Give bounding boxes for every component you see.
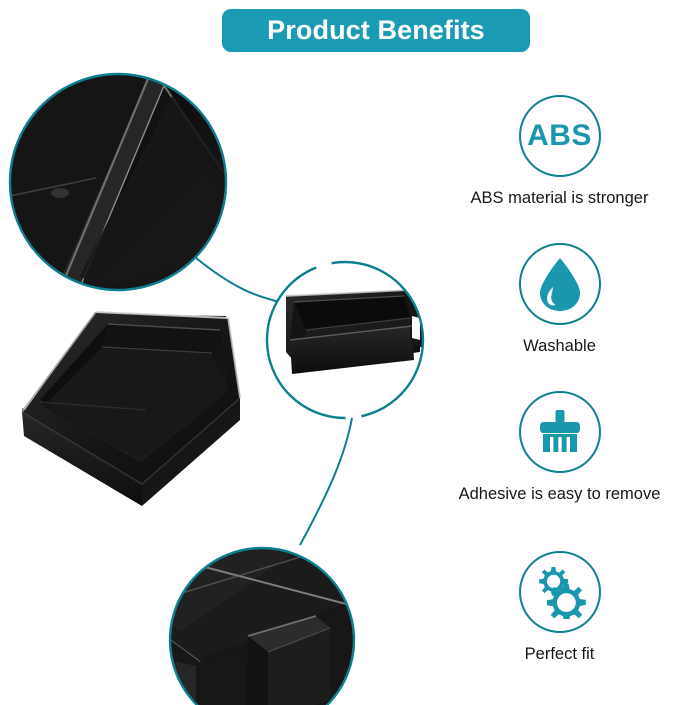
benefits-list: ABS ABS material is stronger Washable (440, 95, 679, 695)
benefit-item-abs: ABS ABS material is stronger (440, 95, 679, 209)
water-drop-icon (519, 243, 601, 325)
benefit-label-perfect-fit: Perfect fit (525, 645, 595, 665)
callout-top-left (10, 74, 226, 292)
abs-icon-text: ABS (527, 121, 592, 151)
benefit-item-perfect-fit: Perfect fit (440, 551, 679, 665)
benefit-label-abs: ABS material is stronger (471, 189, 649, 209)
brush-icon (519, 391, 601, 473)
abs-icon: ABS (519, 95, 601, 177)
benefit-label-washable: Washable (523, 337, 596, 357)
benefit-label-adhesive: Adhesive is easy to remove (459, 485, 661, 505)
benefit-item-adhesive: Adhesive is easy to remove (440, 391, 679, 505)
product-visual-area (0, 0, 460, 705)
product-hero-image (22, 312, 240, 506)
infographic-canvas: Product Benefits (0, 0, 679, 705)
benefit-item-washable: Washable (440, 243, 679, 357)
callout-bottom (170, 548, 354, 705)
gears-icon (519, 551, 601, 633)
callout-center (267, 262, 424, 418)
